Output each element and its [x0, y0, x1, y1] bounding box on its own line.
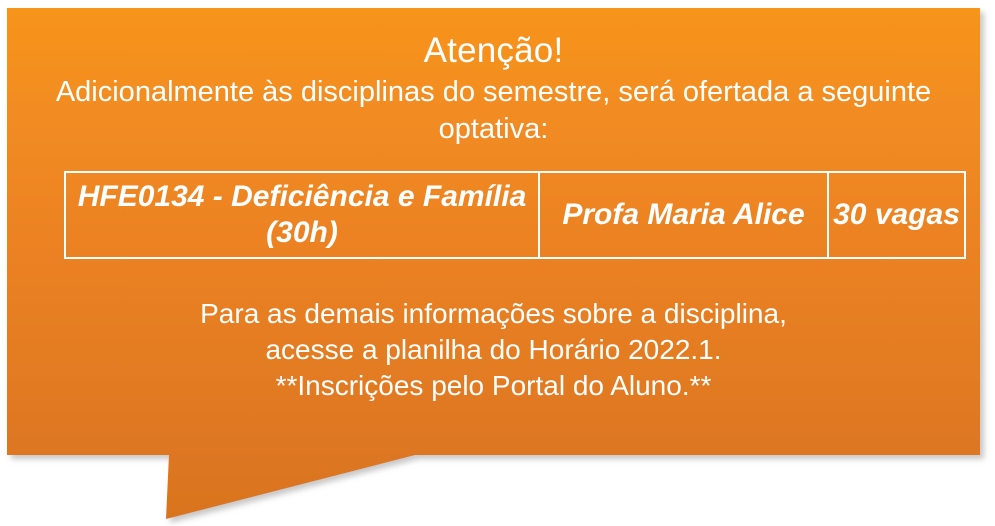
table-row: HFE0134 - Deficiência e Família (30h) Pr…: [65, 172, 965, 258]
optional-course-table: HFE0134 - Deficiência e Família (30h) Pr…: [64, 171, 966, 259]
footer-line-1: Para as demais informações sobre a disci…: [7, 296, 980, 332]
footer-line-2: acesse a planilha do Horário 2022.1.: [7, 332, 980, 368]
footer-line-3: **Inscrições pelo Portal do Aluno.**: [7, 368, 980, 404]
cell-course-name: HFE0134 - Deficiência e Família (30h): [65, 172, 539, 258]
cell-seat-count: 30 vagas: [828, 172, 965, 258]
footer-note: Para as demais informações sobre a disci…: [7, 296, 980, 404]
callout-banner: Atenção! Adicionalmente às disciplinas d…: [0, 0, 995, 526]
callout-subhead: Adicionalmente às disciplinas do semestr…: [7, 72, 980, 148]
cell-teacher-name: Profa Maria Alice: [539, 172, 828, 258]
page-title: Atenção!: [7, 8, 980, 72]
